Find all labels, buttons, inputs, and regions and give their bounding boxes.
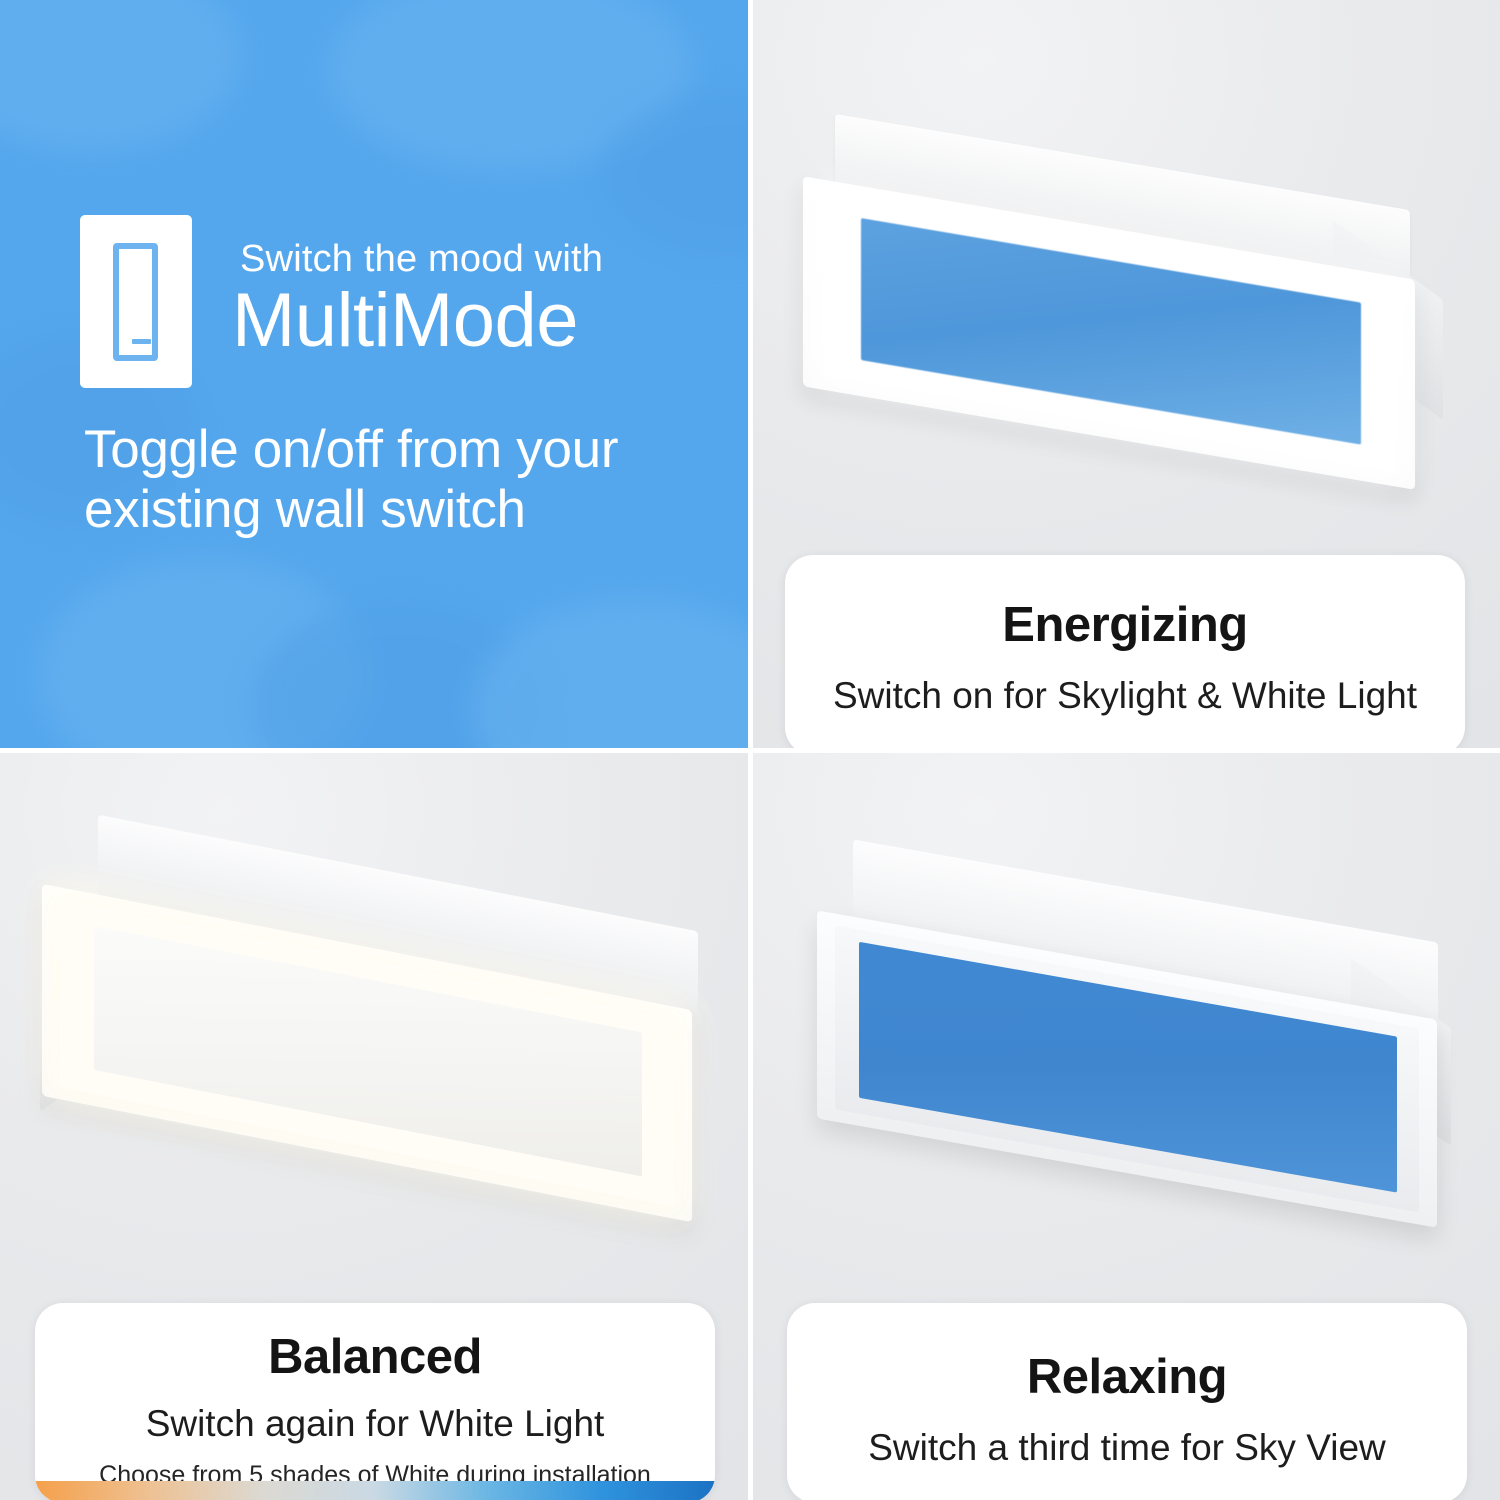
relaxing-panel: Relaxing Switch a third time for Sky Vie…	[753, 753, 1500, 1500]
intro-content: Switch the mood with MultiMode Toggle on…	[0, 0, 748, 748]
energizing-caption-card: Energizing Switch on for Skylight & Whit…	[785, 555, 1465, 748]
relaxing-caption-card: Relaxing Switch a third time for Sky Vie…	[787, 1303, 1467, 1500]
led-panel-fixture-energizing	[793, 140, 1433, 470]
switch-rocker-icon	[113, 243, 158, 361]
energizing-subtitle: Switch on for Skylight & White Light	[785, 675, 1465, 717]
switch-indicator-dash-icon	[132, 339, 151, 344]
balanced-title: Balanced	[35, 1329, 715, 1385]
balanced-caption-card: Balanced Switch again for White Light Ch…	[35, 1303, 715, 1500]
cloud-shape	[330, 0, 690, 170]
wall-switch-icon	[80, 215, 192, 388]
cloud-shape	[40, 560, 370, 748]
led-panel-fixture-balanced	[30, 863, 720, 1203]
intro-eyebrow: Switch the mood with	[240, 240, 603, 278]
balanced-panel: Balanced Switch again for White Light Ch…	[0, 753, 748, 1500]
cloud-shape	[470, 600, 748, 748]
intro-subhead: Toggle on/off from your existing wall sw…	[84, 420, 724, 541]
relaxing-subtitle: Switch a third time for Sky View	[787, 1427, 1467, 1469]
multimode-feature-collage: Switch the mood with MultiMode Toggle on…	[0, 0, 1500, 1500]
intro-panel: Switch the mood with MultiMode Toggle on…	[0, 0, 748, 748]
cloud-shape	[250, 600, 550, 748]
energizing-panel: Energizing Switch on for Skylight & Whit…	[753, 0, 1500, 748]
intro-headline: MultiMode	[232, 283, 578, 359]
led-panel-fixture-relaxing	[803, 873, 1453, 1213]
cloud-shape	[0, 0, 240, 150]
balanced-subtitle: Switch again for White Light	[35, 1403, 715, 1445]
cloud-shape	[600, 90, 748, 260]
white-shade-gradient-bar	[35, 1481, 715, 1500]
energizing-title: Energizing	[785, 597, 1465, 653]
relaxing-title: Relaxing	[787, 1349, 1467, 1405]
